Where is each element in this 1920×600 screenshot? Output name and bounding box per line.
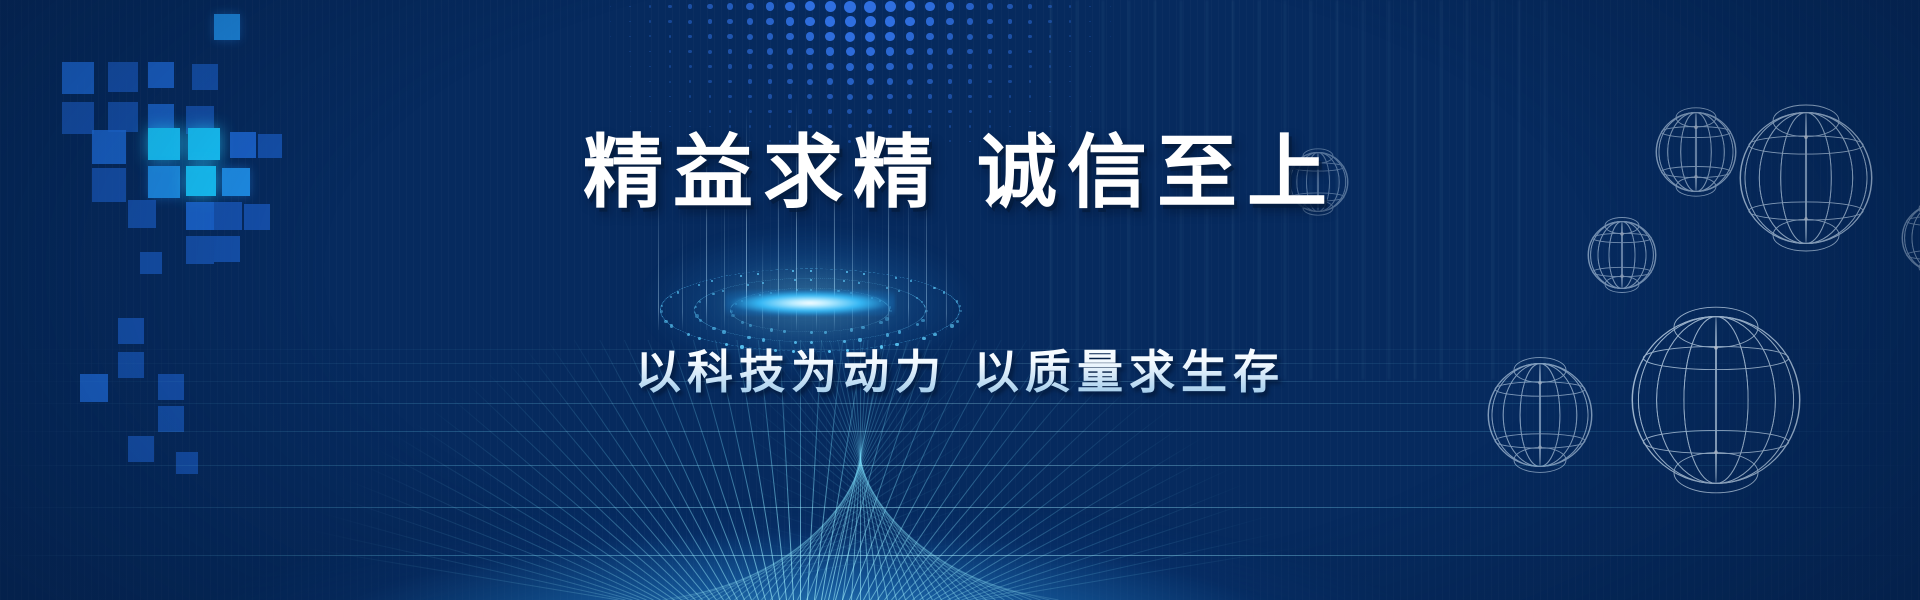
subline-left: 以科技为动力	[635, 345, 947, 399]
floor-horizon-line	[0, 555, 1920, 556]
page-title: 精益求精诚信至上	[0, 108, 1920, 224]
wireframe-globe	[1588, 221, 1656, 289]
floor-horizon-line	[0, 431, 1920, 432]
floor-horizon-line	[0, 507, 1920, 508]
floor-horizon-line	[0, 465, 1920, 466]
floor-horizon-line	[0, 403, 1920, 404]
hero-banner: 精益求精诚信至上 以科技为动力以质量求生存	[0, 0, 1920, 600]
headline-left: 精益求精	[583, 125, 943, 219]
headline-right: 诚信至上	[977, 125, 1337, 219]
page-subtitle: 以科技为动力以质量求生存	[0, 336, 1920, 402]
subline-right: 以质量求生存	[973, 345, 1285, 399]
